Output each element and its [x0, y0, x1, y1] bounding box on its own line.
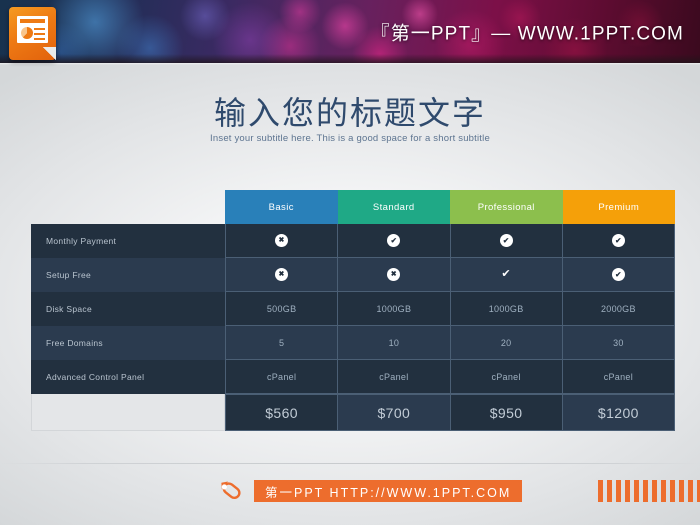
- cell-setup-free-basic: [225, 258, 338, 292]
- footer-stripe: [643, 480, 648, 502]
- cell-monthly-payment-basic: [225, 224, 338, 258]
- logo-line-3: [34, 38, 45, 40]
- row-cells: ✔: [225, 258, 675, 292]
- check-icon: [500, 234, 513, 247]
- footer-stripe: [616, 480, 621, 502]
- table-row: Setup Free ✔: [31, 258, 675, 292]
- cell-free-domains-standard: 10: [338, 326, 450, 360]
- cell-disk-space-premium: 2000GB: [563, 292, 675, 326]
- pencil-icon: [216, 478, 248, 504]
- check-icon: [612, 234, 625, 247]
- footer-stripes: [598, 480, 700, 502]
- table-header-row: Basic Standard Professional Premium: [31, 190, 675, 224]
- footer-divider: [0, 463, 700, 464]
- cross-icon: [387, 268, 400, 281]
- footer-stripe: [652, 480, 657, 502]
- column-header-premium[interactable]: Premium: [563, 190, 676, 224]
- footer-url-plate[interactable]: 第一PPT HTTP://WWW.1PPT.COM: [254, 480, 522, 502]
- cell-free-domains-basic: 5: [225, 326, 338, 360]
- cross-icon: [275, 234, 288, 247]
- footer-url-text: 第一PPT HTTP://WWW.1PPT.COM: [265, 482, 511, 501]
- check-icon: [612, 268, 625, 281]
- row-label-disk-space: Disk Space: [31, 292, 225, 326]
- cell-control-panel-premium: cPanel: [563, 360, 675, 394]
- header-banner: 『第一PPT』— WWW.1PPT.COM: [0, 0, 700, 63]
- price-professional[interactable]: $950: [451, 394, 563, 431]
- logo-title-bar: [20, 19, 45, 23]
- powerpoint-logo-icon: [9, 7, 56, 60]
- footer-bar: 第一PPT HTTP://WWW.1PPT.COM: [0, 478, 700, 504]
- logo-document-shape: [17, 16, 48, 43]
- logo-line-1: [34, 28, 45, 30]
- cell-setup-free-premium: [563, 258, 675, 292]
- column-header-professional[interactable]: Professional: [450, 190, 563, 224]
- footer-stripe: [679, 480, 684, 502]
- cell-control-panel-standard: cPanel: [338, 360, 450, 394]
- row-label-monthly-payment: Monthly Payment: [31, 224, 225, 258]
- logo-pie-chart-icon: [21, 27, 33, 39]
- cell-control-panel-professional: cPanel: [451, 360, 563, 394]
- price-row-cells: $560 $700 $950 $1200: [225, 394, 675, 431]
- pricing-table: Basic Standard Professional Premium Mont…: [31, 190, 675, 431]
- header-cells: Basic Standard Professional Premium: [225, 190, 675, 224]
- price-premium[interactable]: $1200: [563, 394, 675, 431]
- table-row: Monthly Payment: [31, 224, 675, 258]
- logo-line-2: [34, 33, 45, 35]
- row-cells: [225, 224, 675, 258]
- footer-stripe: [688, 480, 693, 502]
- footer-stripe: [634, 480, 639, 502]
- page-title: 输入您的标题文字: [0, 88, 700, 134]
- row-cells: cPanel cPanel cPanel cPanel: [225, 360, 675, 394]
- banner-bottom-fade: [0, 54, 700, 63]
- brand-text: 『第一PPT』— WWW.1PPT.COM: [371, 18, 684, 45]
- table-row: Advanced Control Panel cPanel cPanel cPa…: [31, 360, 675, 394]
- cross-icon: [275, 268, 288, 281]
- price-row-label-cell: [31, 394, 225, 431]
- row-cells: 5 10 20 30: [225, 326, 675, 360]
- check-icon: [387, 234, 400, 247]
- cell-setup-free-professional: ✔: [451, 258, 563, 292]
- logo-corner-fold: [43, 47, 56, 60]
- header-corner-cell: [31, 190, 225, 224]
- cell-free-domains-premium: 30: [563, 326, 675, 360]
- cell-monthly-payment-premium: [563, 224, 675, 258]
- row-cells: 500GB 1000GB 1000GB 2000GB: [225, 292, 675, 326]
- cell-monthly-payment-standard: [338, 224, 450, 258]
- cell-disk-space-standard: 1000GB: [338, 292, 450, 326]
- footer-stripe: [607, 480, 612, 502]
- cell-disk-space-professional: 1000GB: [451, 292, 563, 326]
- row-label-free-domains: Free Domains: [31, 326, 225, 360]
- cell-disk-space-basic: 500GB: [225, 292, 338, 326]
- table-price-row: $560 $700 $950 $1200: [31, 394, 675, 431]
- cell-setup-free-standard: [338, 258, 450, 292]
- price-basic[interactable]: $560: [225, 394, 338, 431]
- footer-stripe: [598, 480, 603, 502]
- column-header-standard[interactable]: Standard: [338, 190, 451, 224]
- footer-stripe: [670, 480, 675, 502]
- table-row: Free Domains 5 10 20 30: [31, 326, 675, 360]
- cell-monthly-payment-professional: [451, 224, 563, 258]
- cell-free-domains-professional: 20: [451, 326, 563, 360]
- price-standard[interactable]: $700: [338, 394, 450, 431]
- table-row: Disk Space 500GB 1000GB 1000GB 2000GB: [31, 292, 675, 326]
- column-header-basic[interactable]: Basic: [225, 190, 338, 224]
- row-label-setup-free: Setup Free: [31, 258, 225, 292]
- row-label-advanced-control-panel: Advanced Control Panel: [31, 360, 225, 394]
- footer-stripe: [625, 480, 630, 502]
- cell-control-panel-basic: cPanel: [225, 360, 338, 394]
- footer-stripe: [661, 480, 666, 502]
- page-subtitle: Inset your subtitle here. This is a good…: [0, 133, 700, 144]
- check-icon: ✔: [501, 269, 511, 280]
